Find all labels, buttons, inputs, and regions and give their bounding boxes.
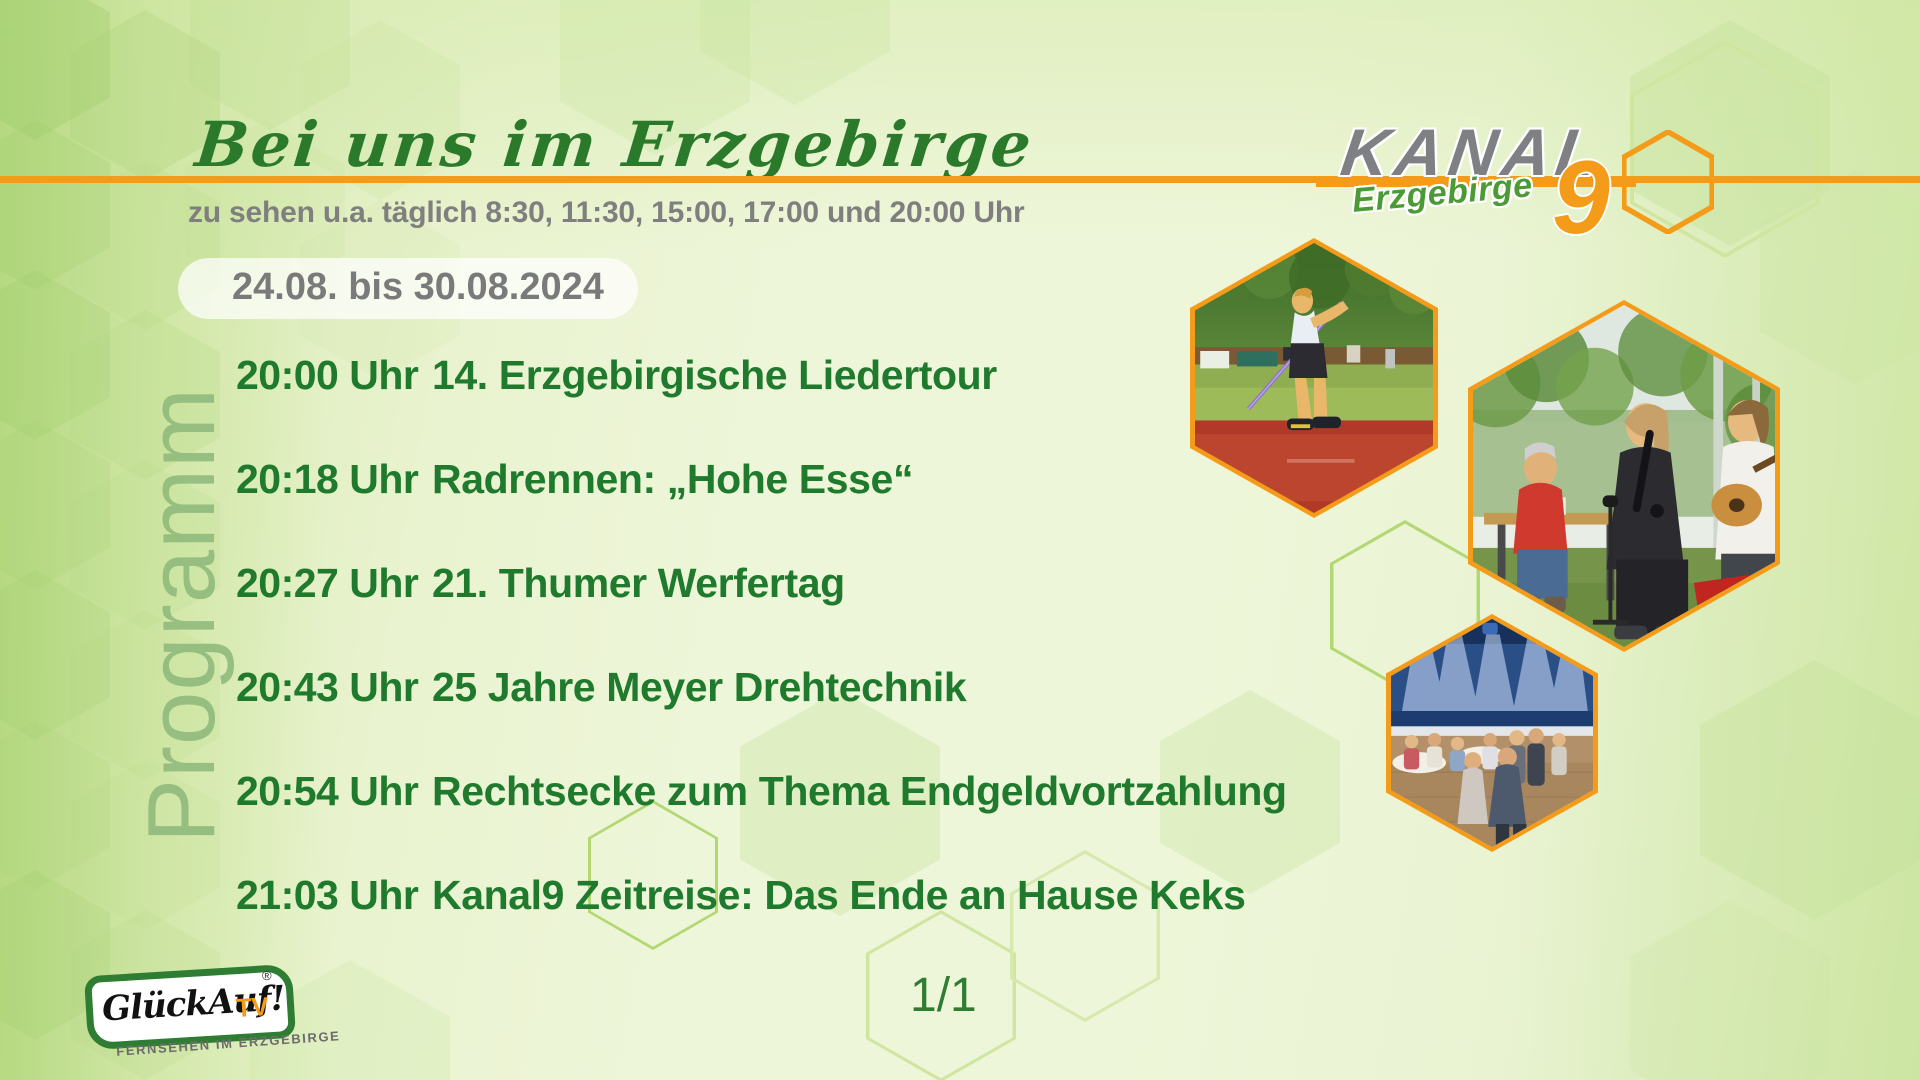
musicians-photo-illustration [1473, 305, 1775, 647]
program-row[interactable]: 20:43 Uhr 25 Jahre Meyer Drehtechnik [236, 664, 1356, 768]
program-time: 20:00 Uhr [236, 352, 432, 399]
kanal9-logo: KANAL Erzgebirge 9 [1330, 108, 1660, 238]
registered-trademark-icon: ® [262, 968, 272, 983]
program-time: 20:27 Uhr [236, 560, 432, 607]
program-row[interactable]: 20:18 Uhr Radrennen: „Hohe Esse“ [236, 456, 1356, 560]
glueckauf-tv-logo: GlückAuf! TV ® FERNSEHEN IM ERZGEBIRGE [86, 962, 306, 1066]
program-row[interactable]: 20:27 Uhr 21. Thumer Werfertag [236, 560, 1356, 664]
broadcast-times-subtitle: zu sehen u.a. täglich 8:30, 11:30, 15:00… [188, 196, 1025, 230]
program-slide: Bei uns im Erzgebirge zu sehen u.a. tägl… [0, 0, 1920, 1080]
program-title: Kanal9 Zeitreise: Das Ende an Hause Keks [432, 872, 1245, 919]
hex-photo-inner [1473, 305, 1775, 647]
program-time: 20:18 Uhr [236, 456, 432, 503]
hex-photo-hall [1386, 614, 1598, 852]
page-indicator: 1/1 [910, 968, 977, 1023]
program-time: 21:03 Uhr [236, 872, 432, 919]
hex-photo-musicians [1468, 300, 1780, 652]
programm-vertical-label: Programm [127, 265, 237, 965]
program-title: Radrennen: „Hohe Esse“ [432, 456, 913, 503]
program-list: 20:00 Uhr 14. Erzgebirgische Liedertour … [236, 352, 1356, 976]
program-time: 20:54 Uhr [236, 768, 432, 815]
program-title: 14. Erzgebirgische Liedertour [432, 352, 997, 399]
kanal9-number: 9 [1552, 146, 1610, 250]
hex-photo-inner [1391, 619, 1593, 847]
program-title: 21. Thumer Werfertag [432, 560, 845, 607]
program-time: 20:43 Uhr [236, 664, 432, 711]
page-title: Bei uns im Erzgebirge [192, 108, 1037, 181]
glueckauf-tv-suffix: TV [235, 991, 269, 1024]
program-title: Rechtsecke zum Thema Endgeldvortzahlung [432, 768, 1287, 815]
event-hall-photo-illustration [1391, 619, 1593, 847]
program-row[interactable]: 20:54 Uhr Rechtsecke zum Thema Endgeldvo… [236, 768, 1356, 872]
program-row[interactable]: 20:00 Uhr 14. Erzgebirgische Liedertour [236, 352, 1356, 456]
hexagon-outline-icon [1622, 130, 1714, 234]
program-title: 25 Jahre Meyer Drehtechnik [432, 664, 966, 711]
date-range-badge: 24.08. bis 30.08.2024 [178, 258, 638, 319]
program-row[interactable]: 21:03 Uhr Kanal9 Zeitreise: Das Ende an … [236, 872, 1356, 976]
